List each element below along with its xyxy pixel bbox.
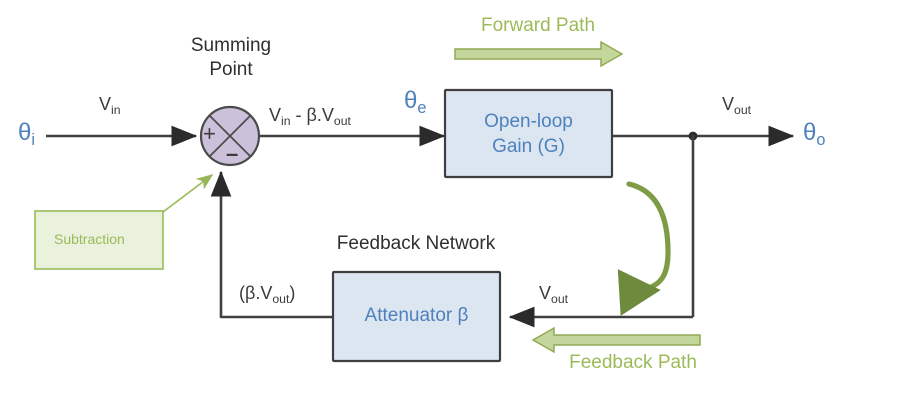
diagram-canvas	[0, 0, 923, 410]
summing-point-caption-line2: Point	[166, 58, 296, 82]
label-error-theta: θe	[404, 88, 426, 113]
label-feedback-voltage: Vout	[539, 284, 568, 303]
summing-point-minus-sign: –	[226, 142, 238, 165]
summing-point-caption-line1: Summing	[166, 34, 296, 58]
label-output-theta: θo	[803, 120, 825, 145]
forward-path-label: Forward Path	[438, 16, 638, 36]
feedback-path-block-arrow	[533, 328, 700, 352]
open-loop-gain-label-line1: Open-loop	[445, 109, 612, 134]
control-system-block-diagram: θi Vin Summing Point + – Vin - β.Vout θe…	[0, 0, 923, 410]
summing-point-caption: Summing Point	[166, 34, 296, 82]
label-input-voltage: Vin	[99, 95, 121, 114]
label-output-voltage: Vout	[722, 95, 751, 114]
attenuator-block-label: Attenuator β	[333, 303, 500, 328]
open-loop-gain-block-label: Open-loop Gain (G)	[445, 109, 612, 159]
open-loop-gain-label-line2: Gain (G)	[445, 134, 612, 159]
loop-direction-curved-arrow	[627, 184, 668, 292]
summing-point-plus-sign: +	[203, 122, 216, 145]
feedback-path-label: Feedback Path	[533, 353, 733, 373]
feedback-network-label: Feedback Network	[316, 232, 516, 256]
subtraction-callout-label: Subtraction	[54, 232, 125, 247]
subtraction-callout-leader	[163, 175, 212, 212]
label-error-expression: Vin - β.Vout	[269, 106, 351, 125]
forward-path-block-arrow	[455, 42, 622, 66]
label-beta-feedback-voltage: (β.Vout)	[239, 284, 295, 303]
label-input-theta: θi	[18, 120, 35, 145]
